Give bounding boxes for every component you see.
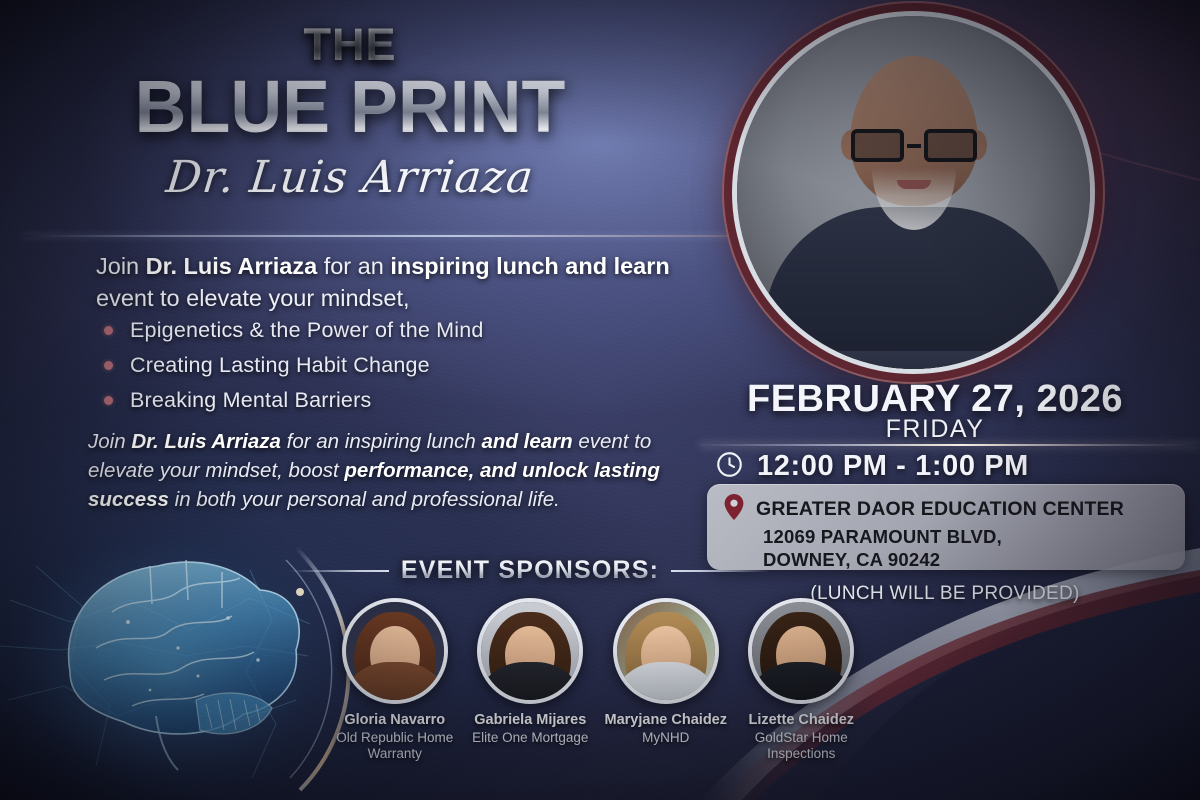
title-block: THE BLUE PRINT Dr. Luis Arriaza [0, 22, 700, 203]
lead-highlight: inspiring lunch and learn [390, 253, 669, 279]
venue-header: GREATER DAOR EDUCATION CENTER [723, 493, 1171, 526]
sponsor-item: Gloria Navarro Old Republic Home Warrant… [328, 598, 462, 762]
avatar [477, 598, 583, 704]
sponsor-name: Lizette Chaidez [735, 712, 869, 729]
glasses-lens-right [924, 129, 977, 162]
glasses-bridge [907, 144, 921, 148]
sponsor-name: Gloria Navarro [328, 712, 462, 729]
lead-speaker-name: Dr. Luis Arriaza [146, 253, 318, 279]
sponsor-company: GoldStar Home Inspections [735, 730, 869, 762]
sponsor-company: Old Republic Home Warranty [328, 730, 462, 762]
clock-icon [716, 451, 743, 483]
bullet-dot-icon [104, 326, 113, 335]
sponsors-heading: EVENT SPONSORS: [401, 556, 659, 585]
para-text-4: in both your personal and professional l… [169, 488, 560, 511]
list-item: Creating Lasting Habit Change [104, 348, 724, 383]
sponsor-name: Maryjane Chaidez [599, 712, 733, 729]
list-item-label: Creating Lasting Habit Change [130, 353, 430, 378]
sponsor-item: Maryjane Chaidez MyNHD [599, 598, 733, 762]
event-time-row: 12:00 PM - 1:00 PM [716, 450, 1029, 483]
sponsor-list: Gloria Navarro Old Republic Home Warrant… [328, 598, 868, 762]
avatar [748, 598, 854, 704]
portrait-torso [764, 207, 1064, 369]
sponsor-company: MyNHD [599, 730, 733, 746]
lead-text-2: for an [317, 253, 390, 279]
venue-panel: GREATER DAOR EDUCATION CENTER 12069 PARA… [707, 484, 1185, 570]
event-flyer: THE BLUE PRINT Dr. Luis Arriaza Join Dr.… [0, 0, 1200, 800]
sponsors-rule-left [290, 570, 389, 572]
para-highlight-1: and learn [482, 430, 573, 453]
sponsor-company: Elite One Mortgage [464, 730, 598, 746]
para-text-2: for an inspiring lunch [281, 430, 482, 453]
bullet-dot-icon [104, 361, 113, 370]
lead-text-3: event to elevate your mindset, [96, 285, 410, 311]
list-item: Epigenetics & the Power of the Mind [104, 313, 724, 348]
portrait-arms [789, 351, 1039, 369]
list-item-label: Epigenetics & the Power of the Mind [130, 318, 484, 343]
topic-list: Epigenetics & the Power of the Mind Crea… [104, 313, 724, 418]
sponsors-rule-right [671, 570, 770, 572]
sponsor-name: Gabriela Mijares [464, 712, 598, 729]
date-divider [700, 444, 1200, 446]
bullet-dot-icon [104, 396, 113, 405]
list-item-label: Breaking Mental Barriers [130, 388, 371, 413]
glasses-lens-left [851, 129, 904, 162]
title-divider [22, 235, 812, 237]
venue-address-line-1: 12069 PARAMOUNT BLVD, [763, 526, 1171, 549]
list-item: Breaking Mental Barriers [104, 383, 724, 418]
event-weekday: FRIDAY [700, 415, 1170, 444]
event-time: 12:00 PM - 1:00 PM [757, 450, 1029, 483]
sponsor-item: Lizette Chaidez GoldStar Home Inspection… [735, 598, 869, 762]
speaker-signature: Dr. Luis Arriaza [0, 152, 703, 203]
title-blueprint: BLUE PRINT [11, 69, 690, 144]
title-the: THE [0, 22, 700, 67]
speaker-portrait [737, 16, 1090, 369]
venue-name: GREATER DAOR EDUCATION CENTER [756, 498, 1124, 521]
sponsors-heading-row: EVENT SPONSORS: [290, 556, 770, 585]
description-paragraph: Join Dr. Luis Arriaza for an inspiring l… [88, 427, 698, 514]
para-speaker-name: Dr. Luis Arriaza [131, 430, 281, 453]
portrait-mouth [897, 180, 931, 189]
lead-paragraph: Join Dr. Luis Arriaza for an inspiring l… [96, 250, 721, 315]
location-pin-icon [723, 493, 745, 526]
avatar [613, 598, 719, 704]
avatar [342, 598, 448, 704]
sponsor-item: Gabriela Mijares Elite One Mortgage [464, 598, 598, 762]
portrait-head [850, 56, 978, 206]
venue-address-line-2: DOWNEY, CA 90242 [763, 549, 1171, 572]
para-text-1: Join [88, 430, 131, 453]
lead-text-1: Join [96, 253, 146, 279]
glasses-icon [851, 128, 977, 163]
